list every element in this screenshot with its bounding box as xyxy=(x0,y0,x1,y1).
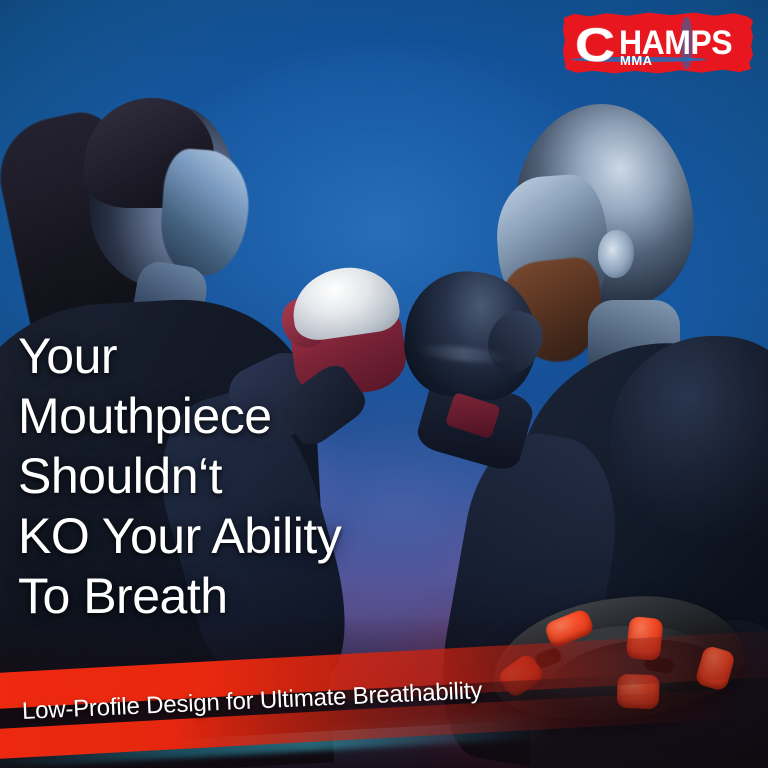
advertisement-image: C HAMPS MMA Your Mouthpiece Shouldn‘t KO… xyxy=(0,0,768,768)
headline-line-3: Shouldn‘t xyxy=(18,446,458,506)
headline: Your Mouthpiece Shouldn‘t KO Your Abilit… xyxy=(18,326,458,626)
logo-sub-text: MMA xyxy=(620,54,653,67)
champs-mma-logo[interactable]: C HAMPS MMA xyxy=(563,12,753,74)
logo-c-mark: C xyxy=(575,21,613,68)
headline-line-2: Mouthpiece xyxy=(18,386,458,446)
headline-line-5: To Breath xyxy=(18,566,458,626)
headline-line-1: Your xyxy=(18,326,458,386)
headline-line-4: KO Your Ability xyxy=(18,506,458,566)
